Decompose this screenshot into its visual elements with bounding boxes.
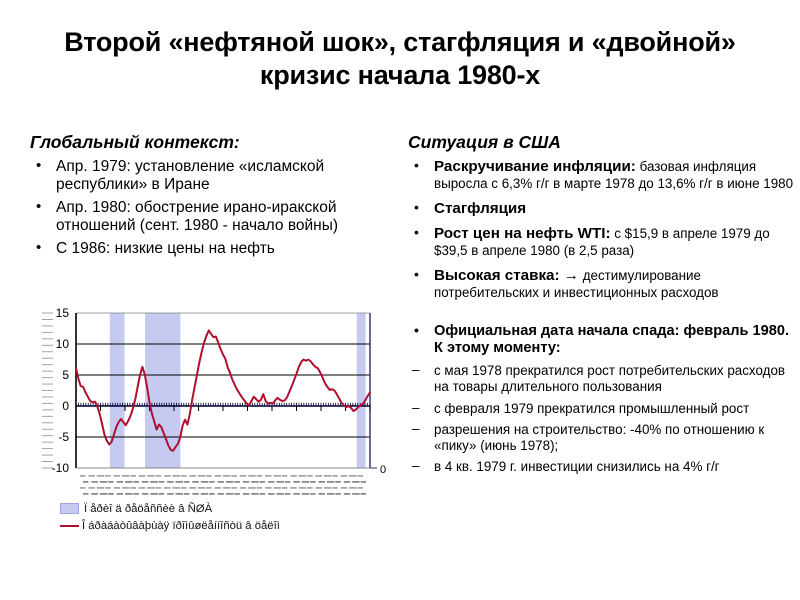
x-axis-tick-label (285, 493, 291, 495)
legend-label: Ï åðèî ä ðåöåññèè â ÑØÀ (84, 503, 212, 515)
list-item: • Стагфляция (408, 200, 796, 218)
x-axis-tick-label (327, 481, 335, 483)
x-axis-tick-label (332, 475, 338, 477)
legend-label: Î áðàáàòûâàþùàÿ ïðîìûøëåííîñòü â öåëîì (82, 520, 280, 532)
x-axis-tick-label (176, 493, 184, 495)
list-item: • Апр. 1980: обострение ирано-иракской о… (30, 199, 402, 235)
legend-item-recessions: Ï åðèî ä ðåöåññèè â ÑØÀ (60, 500, 390, 517)
x-axis-tick-label (97, 475, 105, 477)
x-axis-tick-label (100, 481, 108, 483)
bullet-marker-icon: • (414, 157, 419, 173)
x-axis-tick-label (223, 475, 231, 477)
x-axis-tick-label (282, 475, 288, 477)
x-axis-tick-label (335, 493, 341, 495)
x-axis-tick-label (108, 493, 114, 495)
chart-legend: Ï åðèî ä ðåöåññèè â ÑØÀ Î áðàáàòûâàþùàÿ … (60, 500, 390, 534)
x-axis-tick-label (361, 493, 367, 495)
x-axis-tick-label (181, 475, 187, 477)
x-axis-tick-label (349, 487, 357, 489)
x-axis-tick-label (108, 481, 114, 483)
x-axis-tick-label (223, 487, 231, 489)
x-axis-tick-label (181, 487, 187, 489)
x-axis-tick-label (293, 493, 300, 495)
list-item: – в 4 кв. 1979 г. инвестиции снизились н… (408, 459, 796, 475)
x-axis-tick-label (139, 475, 146, 477)
x-axis-tick-label (349, 475, 357, 477)
recession-band (357, 313, 366, 468)
x-axis-tick-label (344, 481, 351, 483)
list-item: • Рост цен на нефть WTI: с $15,9 в апрел… (408, 225, 796, 260)
x-axis-tick-label (147, 487, 155, 489)
x-axis-tick-label (251, 493, 259, 495)
x-axis-tick-label (302, 493, 310, 495)
list-item: • Раскручивание инфляции: базовая инфляц… (408, 158, 796, 193)
list-item-text: С 1986: низкие цены на нефть (56, 240, 275, 257)
x-axis-tick-label (226, 481, 234, 483)
legend-swatch-line-icon (60, 525, 79, 527)
dash-marker-icon: – (412, 362, 419, 378)
x-axis-tick-label (243, 493, 250, 495)
recession-band (145, 313, 180, 468)
x-axis-tick-label (215, 487, 222, 489)
x-axis-tick-label (176, 481, 184, 483)
chart-svg: 151050-5-100 (40, 305, 390, 500)
x-axis-tick-label (293, 481, 300, 483)
x-axis-tick-label (332, 487, 338, 489)
recession-band (110, 313, 125, 468)
x-axis-tick-label (88, 475, 95, 477)
dash-marker-icon: – (412, 421, 419, 437)
x-axis-tick-label (231, 475, 237, 477)
x-axis-tick-label (260, 481, 266, 483)
list-item-text: с февраля 1979 прекратился промышленный … (434, 401, 749, 416)
x-axis-tick-label (209, 493, 215, 495)
right-bullet-list: • Раскручивание инфляции: базовая инфляц… (408, 158, 796, 301)
x-axis-tick-label (80, 487, 86, 489)
x-axis-tick-label (201, 493, 209, 495)
x-axis-tick-label (310, 481, 316, 483)
bullet-marker-icon: • (414, 266, 419, 282)
bullet-marker-icon: • (36, 157, 41, 174)
x-axis-tick-label (335, 481, 341, 483)
x-axis-tick-label (198, 487, 206, 489)
right-column-heading: Ситуация в США (408, 132, 796, 152)
legend-item-manufacturing: Î áðàáàòûâàþùàÿ ïðîìûøëåííîñòü â öåëîì (60, 517, 390, 534)
page-title: Второй «нефтяной шок», стагфляция и «дво… (0, 0, 800, 92)
list-item-text: Апр. 1980: обострение ирано-иракской отн… (56, 199, 338, 234)
spacer (408, 309, 796, 323)
x-axis-tick-label (192, 493, 199, 495)
list-item: • Высокая ставка: → дестимулирование пот… (408, 267, 796, 302)
x-axis-tick-label (173, 487, 181, 489)
x-axis-tick-label (150, 493, 158, 495)
x-axis-tick-label (215, 475, 222, 477)
x-axis-tick-label (189, 475, 196, 477)
x-axis-tick-label (164, 475, 171, 477)
x-axis-tick-label (282, 487, 288, 489)
x-axis-tick-label (273, 475, 281, 477)
dash-marker-icon: – (412, 400, 419, 416)
x-axis-tick-label (125, 493, 133, 495)
dash-marker-icon: – (412, 458, 419, 474)
recession-chart: 151050-5-100 Ï åðèî ä ðåöåññèè â ÑØÀ Î á… (40, 305, 390, 555)
x-axis-tick-label (290, 475, 297, 477)
x-axis-tick-label (231, 487, 237, 489)
list-item-text: с мая 1978 прекратился рост потребительс… (434, 363, 785, 394)
x-axis-tick-label (173, 475, 181, 477)
x-axis-tick-label (243, 481, 250, 483)
list-item-text: в 4 кв. 1979 г. инвестиции снизились на … (434, 459, 720, 474)
x-axis-tick-label (361, 481, 367, 483)
x-axis-tick-label (105, 487, 111, 489)
x-axis-tick-label (319, 493, 326, 495)
x-axis-tick-label (316, 487, 323, 489)
bullet-marker-icon: • (414, 322, 419, 338)
x-axis-tick-label (268, 493, 275, 495)
x-axis-tick-label (310, 493, 316, 495)
x-axis-tick-label (201, 481, 209, 483)
x-axis-tick-label (316, 475, 323, 477)
x-axis-tick-label (164, 487, 171, 489)
x-axis-tick-label (184, 481, 190, 483)
x-axis-tick-label (147, 475, 155, 477)
y-axis-tick-label: 10 (56, 337, 70, 351)
x-axis-tick-label (139, 487, 146, 489)
x-axis-tick-label (114, 475, 121, 477)
x-axis-tick-label (248, 487, 256, 489)
chart-corner-label: 0 (380, 464, 386, 476)
x-axis-tick-label (290, 487, 297, 489)
list-item-lead: Стагфляция (434, 200, 526, 217)
x-axis-tick-label (248, 475, 256, 477)
x-axis-tick-label (122, 475, 130, 477)
x-axis-tick-label (344, 493, 351, 495)
x-axis-tick-label (324, 475, 332, 477)
list-item-lead: Рост цен на нефть WTI: (434, 225, 611, 242)
y-axis-tick-label: 0 (62, 399, 69, 413)
x-axis-tick-label (117, 493, 124, 495)
x-axis-tick-label (189, 487, 196, 489)
left-column: Глобальный контекст: • Апр. 1979: устано… (30, 132, 402, 263)
x-axis-tick-label (358, 487, 364, 489)
right-bullet-list-secondary: • Официальная дата начала спада: февраль… (408, 323, 796, 357)
list-item: • С 1986: низкие цены на нефть (30, 240, 402, 258)
x-axis-tick-label (105, 475, 111, 477)
left-column-heading: Глобальный контекст: (30, 132, 402, 152)
bullet-marker-icon: • (36, 239, 41, 256)
x-axis-tick-label (358, 475, 364, 477)
x-axis-tick-label (159, 493, 165, 495)
y-axis-tick-label: 5 (62, 368, 69, 382)
x-axis-tick-label (234, 493, 240, 495)
bullet-marker-icon: • (414, 199, 419, 215)
x-axis-tick-label (352, 481, 360, 483)
x-axis-tick-label (341, 487, 348, 489)
x-axis-tick-label (83, 493, 89, 495)
x-axis-tick-label (156, 475, 162, 477)
x-axis-tick-label (156, 487, 162, 489)
x-axis-tick-label (114, 487, 121, 489)
x-axis-tick-label (251, 481, 259, 483)
x-axis-tick-label (206, 487, 212, 489)
list-item: – разрешения на строительство: -40% по о… (408, 422, 796, 453)
bullet-marker-icon: • (36, 198, 41, 215)
x-axis-tick-label (184, 493, 190, 495)
x-axis-tick-label (324, 487, 332, 489)
x-axis-tick-label (257, 475, 263, 477)
x-axis-tick-label (302, 481, 310, 483)
x-axis-tick-label (234, 481, 240, 483)
x-axis-tick-label (192, 481, 199, 483)
x-axis-tick-label (240, 487, 247, 489)
legend-swatch-box-icon (60, 503, 79, 514)
x-axis-tick-label (133, 493, 139, 495)
x-axis-tick-label (276, 481, 284, 483)
right-column: Ситуация в США • Раскручивание инфляции:… (408, 132, 796, 481)
x-axis-tick-label (80, 475, 86, 477)
list-item: • Официальная дата начала спада: февраль… (408, 323, 796, 357)
x-axis-tick-label (299, 487, 307, 489)
x-axis-tick-label (218, 481, 225, 483)
x-axis-tick-label (83, 481, 89, 483)
bullet-marker-icon: • (414, 224, 419, 240)
x-axis-tick-label (218, 493, 225, 495)
x-axis-tick-label (226, 493, 234, 495)
x-axis-tick-label (206, 475, 212, 477)
x-axis-tick-label (198, 475, 206, 477)
list-item-lead: Раскручивание инфляции: (434, 158, 636, 175)
x-axis-tick-label (125, 481, 133, 483)
x-axis-tick-label (260, 493, 266, 495)
x-axis-tick-label (100, 493, 108, 495)
list-item: • Апр. 1979: установление «исламской рес… (30, 158, 402, 194)
right-sub-list: – с мая 1978 прекратился рост потребител… (408, 363, 796, 474)
y-axis-tick-label: 15 (56, 306, 70, 320)
x-axis-tick-label (97, 487, 105, 489)
x-axis-tick-label (122, 487, 130, 489)
x-axis-tick-label (273, 487, 281, 489)
x-axis-tick-label (307, 487, 313, 489)
x-axis-tick-label (327, 493, 335, 495)
x-axis-tick-label (268, 481, 275, 483)
x-axis-tick-label (299, 475, 307, 477)
y-axis-tick-label: -10 (52, 461, 70, 475)
x-axis-tick-label (159, 481, 165, 483)
list-item-text: Официальная дата начала спада: февраль 1… (434, 323, 789, 356)
left-bullet-list: • Апр. 1979: установление «исламской рес… (30, 158, 402, 258)
x-axis-tick-label (257, 487, 263, 489)
x-axis-tick-label (209, 481, 215, 483)
x-axis-tick-label (142, 481, 149, 483)
x-axis-tick-label (117, 481, 124, 483)
x-axis-tick-label (307, 475, 313, 477)
x-axis-tick-label (285, 481, 291, 483)
x-axis-tick-label (341, 475, 348, 477)
list-item: – с мая 1978 прекратился рост потребител… (408, 363, 796, 394)
x-axis-tick-label (265, 475, 272, 477)
x-axis-tick-label (167, 493, 174, 495)
list-item-text: Апр. 1979: установление «исламской респу… (56, 158, 324, 193)
x-axis-tick-label (142, 493, 149, 495)
x-axis-tick-label (352, 493, 360, 495)
x-axis-tick-label (319, 481, 326, 483)
x-axis-tick-label (88, 487, 95, 489)
list-item-lead: Высокая ставка: → (434, 267, 579, 284)
x-axis-tick-label (240, 475, 247, 477)
x-axis-tick-label (133, 481, 139, 483)
x-axis-tick-label (130, 475, 136, 477)
x-axis-tick-label (91, 481, 98, 483)
x-axis-tick-label (265, 487, 272, 489)
list-item: – с февраля 1979 прекратился промышленны… (408, 401, 796, 417)
x-axis-tick-label (150, 481, 158, 483)
y-axis-tick-label: -5 (58, 430, 69, 444)
x-axis-tick-label (91, 493, 98, 495)
x-axis-tick-label (167, 481, 174, 483)
x-axis-tick-label (130, 487, 136, 489)
x-axis-tick-label (276, 493, 284, 495)
list-item-text: разрешения на строительство: -40% по отн… (434, 422, 764, 453)
